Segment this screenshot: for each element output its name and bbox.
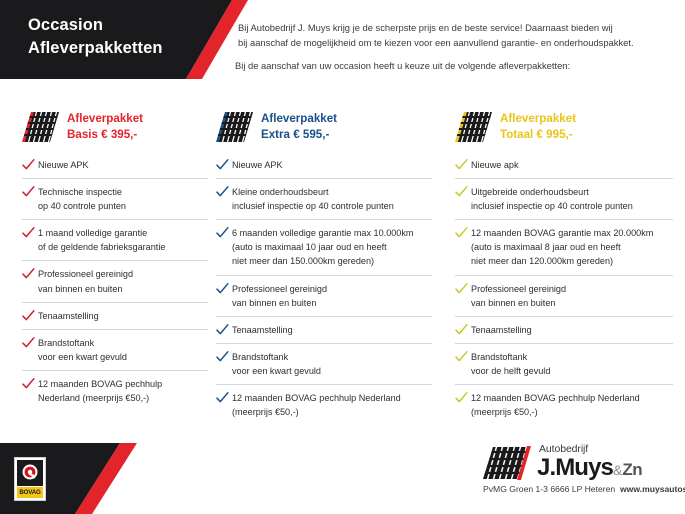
- feature-text-line: Nieuwe APK: [38, 158, 89, 172]
- feature-item: Professioneel gereinigdvan binnen en bui…: [22, 260, 208, 301]
- package-title-2: AfleverpakketTotaal € 995,-: [500, 111, 576, 142]
- feature-text-line: Technische inspectie: [38, 185, 126, 199]
- feature-item: Technische inspectieop 40 controle punte…: [22, 178, 208, 219]
- intro-paragraph-1-line2: bij aanschaf de mogelijkheid om te kieze…: [238, 35, 678, 50]
- feature-item: Brandstoftankvoor de helft gevuld: [455, 343, 673, 384]
- feature-item: 1 maand volledige garantieof de geldende…: [22, 219, 208, 260]
- logo-ampersand: &: [613, 462, 622, 478]
- feature-item: Professioneel gereinigdvan binnen en bui…: [216, 275, 432, 316]
- feature-text: Nieuwe APK: [232, 158, 283, 172]
- package-header-0: AfleverpakketBasis € 395,-: [22, 104, 208, 150]
- feature-item: Tenaamstelling: [22, 302, 208, 329]
- intro-paragraph-1: Bij Autobedrijf J. Muys krijg je de sche…: [238, 20, 678, 50]
- feature-text-line: 12 maanden BOVAG pechhulp Nederland: [471, 391, 640, 405]
- check-icon: [455, 392, 471, 405]
- check-icon: [216, 186, 232, 199]
- package-column-2: AfleverpakketTotaal € 995,-Nieuwe apkUit…: [455, 104, 673, 441]
- feature-item: 12 maanden BOVAG pechhulpNederland (meer…: [22, 370, 208, 411]
- check-icon: [22, 186, 38, 199]
- feature-text-line: (auto is maximaal 10 jaar oud en heeft: [232, 240, 413, 254]
- feature-text: Brandstoftankvoor de helft gevuld: [471, 350, 550, 378]
- feature-text: Tenaamstelling: [471, 323, 532, 337]
- feature-text: 1 maand volledige garantieof de geldende…: [38, 226, 165, 254]
- feature-text: Uitgebreide onderhoudsbeurtinclusief ins…: [471, 185, 633, 213]
- feature-text: Nieuwe APK: [38, 158, 89, 172]
- package-header-1: AfleverpakketExtra € 595,-: [216, 104, 432, 150]
- check-icon: [455, 227, 471, 240]
- check-icon: [216, 324, 232, 337]
- tire-icon: [216, 110, 254, 144]
- feature-text-line: inclusief inspectie op 40 controle punte…: [471, 199, 633, 213]
- check-icon: [216, 227, 232, 240]
- feature-text: Tenaamstelling: [232, 323, 293, 337]
- feature-text-line: Professioneel gereinigd: [232, 282, 327, 296]
- page-title-line2: Afleverpakketten: [28, 37, 163, 60]
- package-title-line2: Totaal € 995,-: [500, 127, 576, 143]
- feature-text: Nieuwe apk: [471, 158, 519, 172]
- intro-paragraph-2: Bij de aanschaf van uw occasion heeft u …: [235, 58, 675, 73]
- feature-text-line: 12 maanden BOVAG garantie max 20.000km: [471, 226, 653, 240]
- website-url[interactable]: www.muysautos.nl: [620, 484, 685, 494]
- feature-text-line: of de geldende fabrieksgarantie: [38, 240, 165, 254]
- feature-text-line: (meerprijs €50,-): [232, 405, 401, 419]
- feature-text-line: Uitgebreide onderhoudsbeurt: [471, 185, 633, 199]
- feature-text-line: 12 maanden BOVAG pechhulp: [38, 377, 162, 391]
- feature-text: Technische inspectieop 40 controle punte…: [38, 185, 126, 213]
- package-column-0: AfleverpakketBasis € 395,-Nieuwe APKTech…: [22, 104, 208, 427]
- feature-text-line: (meerprijs €50,-): [471, 405, 640, 419]
- feature-text-line: Tenaamstelling: [38, 309, 99, 323]
- footer-address: PvMG Groen 1-3 6666 LP Heteren www.muysa…: [483, 484, 685, 494]
- package-column-1: AfleverpakketExtra € 595,-Nieuwe APKKlei…: [216, 104, 432, 441]
- check-icon: [216, 351, 232, 364]
- package-title-1: AfleverpakketExtra € 595,-: [261, 111, 337, 142]
- feature-text: Brandstoftankvoor een kwart gevuld: [232, 350, 321, 378]
- logo-name: J.Muys: [537, 454, 613, 481]
- feature-text-line: voor de helft gevuld: [471, 364, 550, 378]
- package-title-line2: Extra € 595,-: [261, 127, 337, 143]
- feature-text-line: van binnen en buiten: [232, 296, 327, 310]
- check-icon: [22, 337, 38, 350]
- muys-company-logo: Autobedrijf J.Muys&Zn: [483, 443, 683, 483]
- feature-item: Brandstoftankvoor een kwart gevuld: [22, 329, 208, 370]
- feature-text: Professioneel gereinigdvan binnen en bui…: [38, 267, 133, 295]
- feature-item: 12 maanden BOVAG pechhulp Nederland(meer…: [455, 384, 673, 425]
- feature-text: 12 maanden BOVAG pechhulp Nederland(meer…: [471, 391, 640, 419]
- feature-item: Uitgebreide onderhoudsbeurtinclusief ins…: [455, 178, 673, 219]
- feature-text: 12 maanden BOVAG garantie max 20.000km(a…: [471, 226, 653, 268]
- feature-text: 12 maanden BOVAG pechhulp Nederland(meer…: [232, 391, 401, 419]
- feature-item: Nieuwe apk: [455, 156, 673, 178]
- check-icon: [22, 378, 38, 391]
- feature-text-line: Nieuwe APK: [232, 158, 283, 172]
- check-icon: [455, 283, 471, 296]
- package-title-line1: Afleverpakket: [500, 111, 576, 127]
- feature-text-line: Brandstoftank: [471, 350, 550, 364]
- feature-text-line: Tenaamstelling: [471, 323, 532, 337]
- check-icon: [22, 268, 38, 281]
- feature-text-line: 12 maanden BOVAG pechhulp Nederland: [232, 391, 401, 405]
- feature-text: Brandstoftankvoor een kwart gevuld: [38, 336, 127, 364]
- bovag-wordmark: BOVAG: [17, 487, 43, 498]
- feature-text-line: niet meer dan 150.000km gereden): [232, 254, 413, 268]
- feature-text-line: Kleine onderhoudsbeurt: [232, 185, 394, 199]
- feature-item: 12 maanden BOVAG pechhulp Nederland(meer…: [216, 384, 432, 425]
- package-columns: AfleverpakketBasis € 395,-Nieuwe APKTech…: [0, 104, 685, 414]
- feature-text: Tenaamstelling: [38, 309, 99, 323]
- check-icon: [22, 159, 38, 172]
- check-icon: [216, 283, 232, 296]
- feature-text-line: voor een kwart gevuld: [38, 350, 127, 364]
- feature-text-line: voor een kwart gevuld: [232, 364, 321, 378]
- feature-list-0: Nieuwe APKTechnische inspectieop 40 cont…: [22, 156, 208, 411]
- feature-item: Nieuwe APK: [22, 156, 208, 178]
- check-icon: [216, 159, 232, 172]
- check-icon: [216, 392, 232, 405]
- logo-zn: Zn: [622, 460, 642, 479]
- feature-text-line: van binnen en buiten: [38, 282, 133, 296]
- page-title: Occasion Afleverpakketten: [28, 14, 163, 61]
- page-header: Occasion Afleverpakketten Bij Autobedrij…: [0, 0, 685, 90]
- feature-item: Brandstoftankvoor een kwart gevuld: [216, 343, 432, 384]
- feature-text-line: inclusief inspectie op 40 controle punte…: [232, 199, 394, 213]
- feature-text: 12 maanden BOVAG pechhulpNederland (meer…: [38, 377, 162, 405]
- feature-text-line: Professioneel gereinigd: [471, 282, 566, 296]
- check-icon: [22, 227, 38, 240]
- feature-text-line: 1 maand volledige garantie: [38, 226, 165, 240]
- feature-item: Professioneel gereinigdvan binnen en bui…: [455, 275, 673, 316]
- logo-wordmark: J.Muys&Zn: [537, 454, 642, 482]
- feature-item: Tenaamstelling: [455, 316, 673, 343]
- check-icon: [455, 186, 471, 199]
- page-title-line1: Occasion: [28, 14, 163, 37]
- package-title-0: AfleverpakketBasis € 395,-: [67, 111, 143, 142]
- feature-text: 6 maanden volledige garantie max 10.000k…: [232, 226, 413, 268]
- feature-text-line: Nederland (meerprijs €50,-): [38, 391, 162, 405]
- package-title-line2: Basis € 395,-: [67, 127, 143, 143]
- intro-paragraph-1-line1: Bij Autobedrijf J. Muys krijg je de sche…: [238, 20, 678, 35]
- check-icon: [455, 159, 471, 172]
- feature-text-line: 6 maanden volledige garantie max 10.000k…: [232, 226, 413, 240]
- feature-text-line: Nieuwe apk: [471, 158, 519, 172]
- feature-item: Tenaamstelling: [216, 316, 432, 343]
- check-icon: [455, 351, 471, 364]
- feature-text-line: niet meer dan 120.000km gereden): [471, 254, 653, 268]
- tire-icon: [22, 110, 60, 144]
- feature-text: Professioneel gereinigdvan binnen en bui…: [471, 282, 566, 310]
- address-text: PvMG Groen 1-3 6666 LP Heteren: [483, 484, 615, 494]
- feature-text-line: (auto is maximaal 8 jaar oud en heeft: [471, 240, 653, 254]
- feature-text: Professioneel gereinigdvan binnen en bui…: [232, 282, 327, 310]
- feature-text-line: Brandstoftank: [232, 350, 321, 364]
- feature-item: Kleine onderhoudsbeurtinclusief inspecti…: [216, 178, 432, 219]
- tire-icon: [483, 445, 531, 481]
- feature-list-2: Nieuwe apkUitgebreide onderhoudsbeurtinc…: [455, 156, 673, 425]
- feature-text-line: Professioneel gereinigd: [38, 267, 133, 281]
- check-icon: [455, 324, 471, 337]
- feature-item: 6 maanden volledige garantie max 10.000k…: [216, 219, 432, 274]
- feature-text: Kleine onderhoudsbeurtinclusief inspecti…: [232, 185, 394, 213]
- feature-text-line: van binnen en buiten: [471, 296, 566, 310]
- feature-text-line: Brandstoftank: [38, 336, 127, 350]
- package-title-line1: Afleverpakket: [261, 111, 337, 127]
- package-header-2: AfleverpakketTotaal € 995,-: [455, 104, 673, 150]
- feature-list-1: Nieuwe APKKleine onderhoudsbeurtinclusie…: [216, 156, 432, 425]
- tire-icon: [455, 110, 493, 144]
- feature-text-line: Tenaamstelling: [232, 323, 293, 337]
- check-icon: [22, 310, 38, 323]
- feature-item: 12 maanden BOVAG garantie max 20.000km(a…: [455, 219, 673, 274]
- package-title-line1: Afleverpakket: [67, 111, 143, 127]
- feature-text-line: op 40 controle punten: [38, 199, 126, 213]
- feature-item: Nieuwe APK: [216, 156, 432, 178]
- bovag-logo: BOVAG: [14, 457, 46, 501]
- bovag-q-icon: [17, 460, 43, 486]
